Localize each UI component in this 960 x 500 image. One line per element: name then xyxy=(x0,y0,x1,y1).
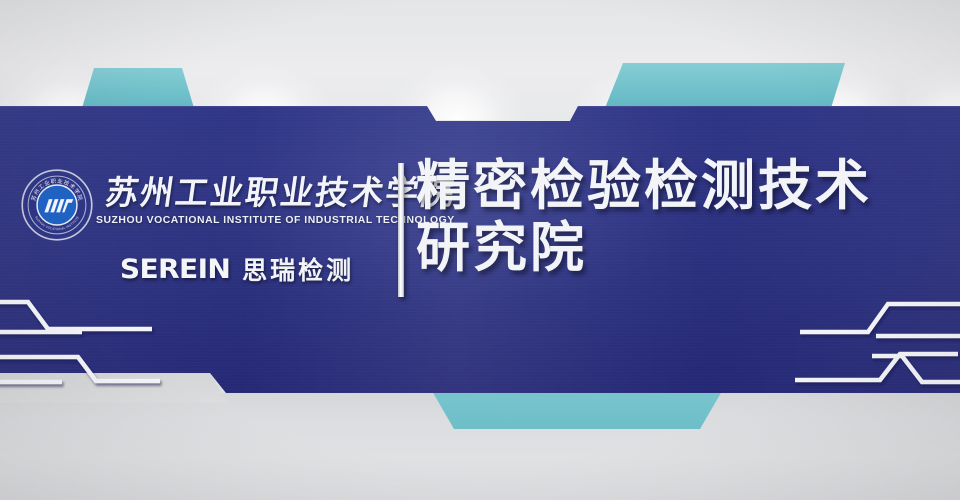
institution-name-cn: 苏州工业职业技术学院 xyxy=(103,166,401,212)
partner-brand-lockup: SEREIN 思瑞检测 xyxy=(122,250,392,288)
floor-step-left xyxy=(0,373,228,403)
partner-brand-en: SEREIN xyxy=(120,254,230,285)
teal-trapezoid-top-left xyxy=(82,68,194,108)
headline-title: 精密检验检测技术 研究院 xyxy=(416,155,956,279)
institution-logo-block: 苏州工业职业技术学院 SUZHOU VOCATIONAL INSTITUTE 苏… xyxy=(14,160,392,295)
school-emblem-icon: 苏州工业职业技术学院 SUZHOU VOCATIONAL INSTITUTE xyxy=(20,168,94,242)
partner-brand-cn: 思瑞检测 xyxy=(242,251,354,287)
teal-trapezoid-top-right xyxy=(605,63,845,108)
headline-line-2: 研究院 xyxy=(416,217,956,279)
signage-photo: 苏州工业职业技术学院 SUZHOU VOCATIONAL INSTITUTE 苏… xyxy=(0,0,960,500)
vertical-divider-bar xyxy=(398,163,404,297)
teal-trapezoid-bottom-center xyxy=(432,391,722,429)
institution-name-en: SUZHOU VOCATIONAL INSTITUTE OF INDUSTRIA… xyxy=(96,215,401,226)
headline-line-1: 精密检验检测技术 xyxy=(416,155,956,217)
